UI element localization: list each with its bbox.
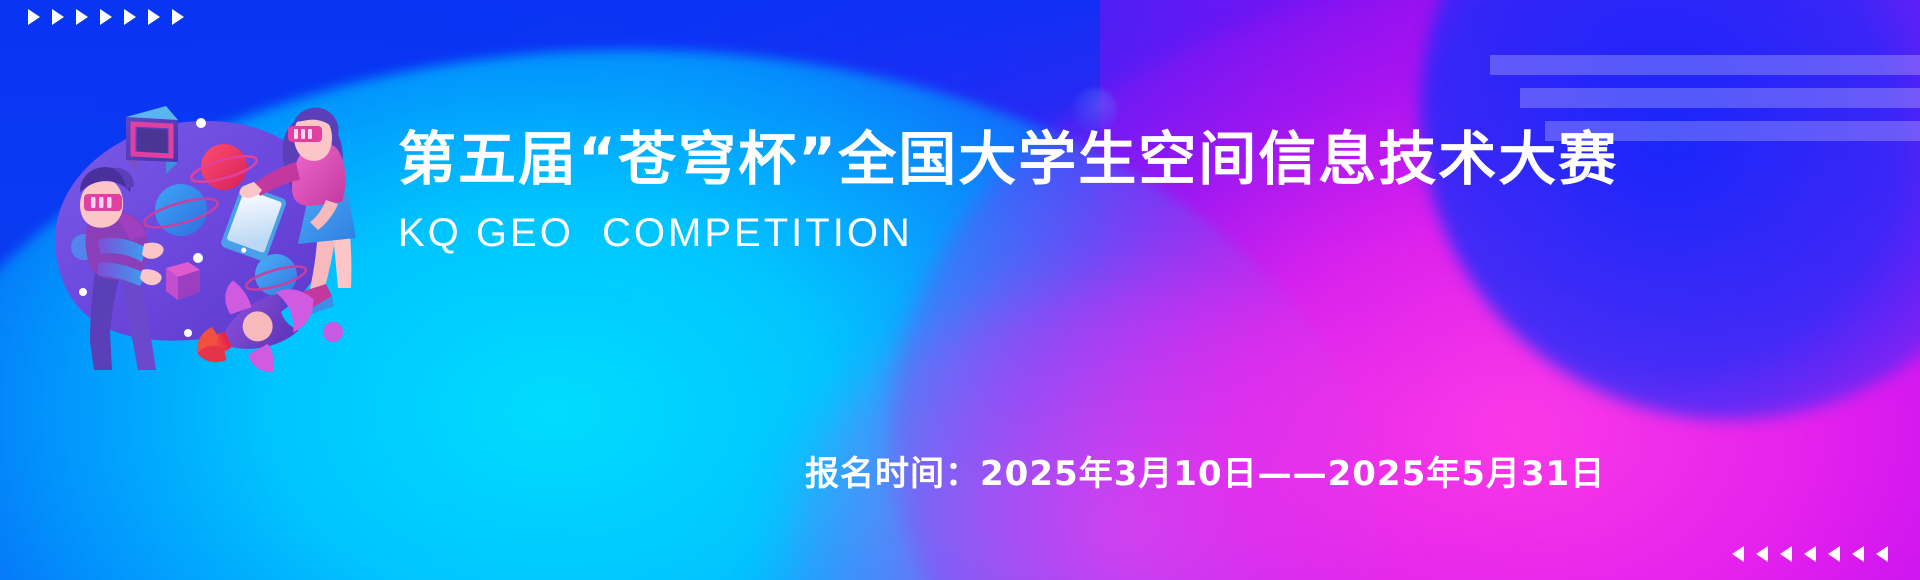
vr-glasses-icon [84,194,122,211]
arrow-row-top-left [28,9,184,25]
star-dot [196,118,206,128]
competition-banner: 第五届“苍穹杯”全国大学生空间信息技术大赛 KQ GEO COMPETITION… [0,0,1920,580]
play-arrow-icon [172,9,184,25]
back-arrow-icon [1852,546,1864,562]
play-arrow-icon [148,9,160,25]
page-subtitle: KQ GEO COMPETITION [398,211,1818,256]
back-arrow-icon [1756,546,1768,562]
play-arrow-icon [28,9,40,25]
registration-period: 报名时间：2025年3月10日——2025年5月31日 [805,446,1605,495]
vr-glasses-icon [288,126,322,142]
stripe-2 [1520,88,1920,108]
back-arrow-icon [1732,546,1744,562]
arrow-row-bottom-right [1732,546,1888,562]
back-arrow-icon [1876,546,1888,562]
play-arrow-icon [124,9,136,25]
star-dot [193,253,203,263]
back-arrow-icon [1828,546,1840,562]
back-arrow-icon [1804,546,1816,562]
planet-magenta-small [323,322,343,342]
stripe-1 [1490,55,1920,75]
page-title: 第五届“苍穹杯”全国大学生空间信息技术大赛 [398,126,1818,193]
play-arrow-icon [52,9,64,25]
back-arrow-icon [1780,546,1792,562]
banner-text-block: 第五届“苍穹杯”全国大学生空间信息技术大赛 KQ GEO COMPETITION [398,126,1818,256]
vr-space-illustration [26,70,356,375]
play-arrow-icon [100,9,112,25]
star-dot [184,329,192,337]
star-dot [79,288,87,296]
play-arrow-icon [76,9,88,25]
